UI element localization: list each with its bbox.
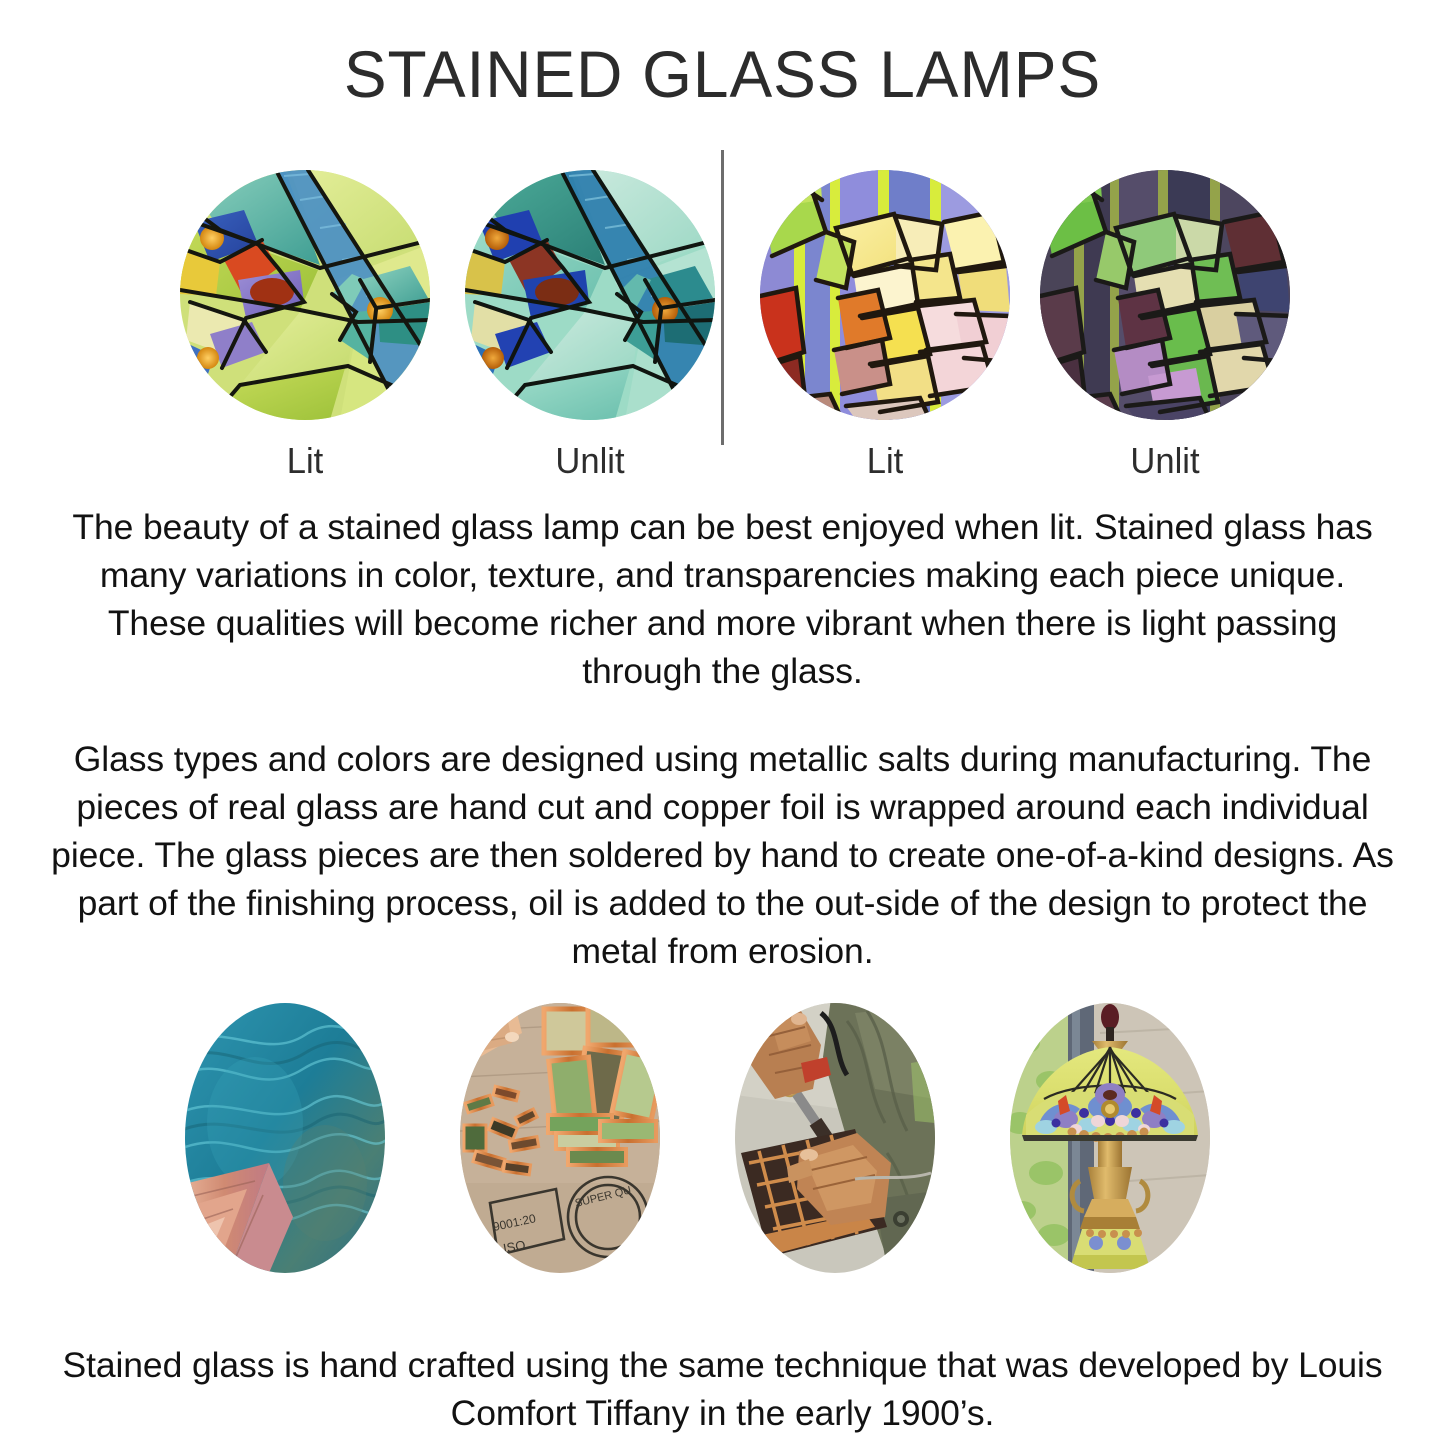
intro-paragraph: The beauty of a stained glass lamp can b… [50,503,1395,695]
process-paragraph: Glass types and colors are designed usin… [50,735,1395,975]
process-paragraph-text: Glass types and colors are designed usin… [50,735,1395,975]
intro-paragraph-text: The beauty of a stained glass lamp can b… [50,503,1395,695]
label-lit-b: Lit [789,440,981,482]
comparison-image-unlit-a [465,170,715,420]
comparison-image-lit-b [760,170,1010,420]
process-image-hand-soldering [735,1003,935,1273]
process-image-finished-lamp [1010,1003,1210,1273]
closing-caption: Stained glass is hand crafted using the … [50,1341,1395,1437]
stained-glass-art-lit-b [760,170,1010,420]
stained-glass-art-lit-a [180,170,430,420]
label-unlit-a: Unlit [494,440,686,482]
process-image-copper-foiling: SUPER QU 9001:20 ISO [460,1003,660,1273]
blue-swirled-glass-sheets-art [185,1003,385,1273]
comparison-divider [721,150,724,445]
process-image-raw-glass-sheets [185,1003,385,1273]
label-unlit-b: Unlit [1069,440,1261,482]
closing-caption-text: Stained glass is hand crafted using the … [50,1341,1395,1437]
stained-glass-art-unlit-a [465,170,715,420]
page-title: STAINED GLASS LAMPS [22,36,1424,112]
copper-foiled-glass-pieces-art: SUPER QU 9001:20 ISO [460,1003,660,1273]
comparison-image-unlit-b [1040,170,1290,420]
soldering-iron-art [735,1003,935,1273]
stained-glass-art-unlit-b [1040,170,1290,420]
infographic-page: STAINED GLASS LAMPS [0,0,1445,1445]
comparison-image-lit-a [180,170,430,420]
label-lit-a: Lit [209,440,401,482]
tiffany-lamp-art [1010,1003,1210,1273]
